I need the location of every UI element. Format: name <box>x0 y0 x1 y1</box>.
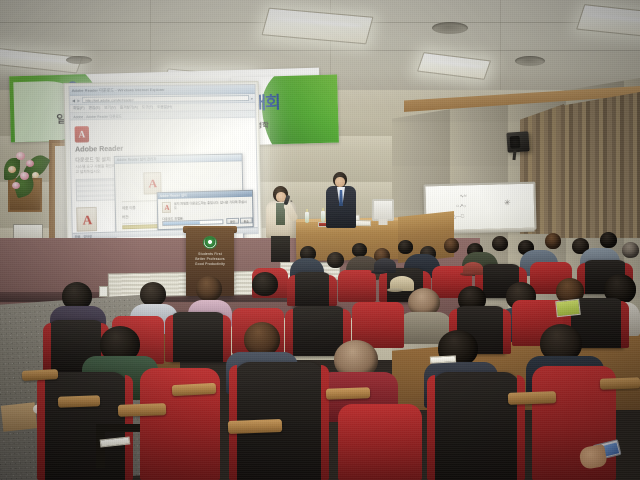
seat-leg <box>96 424 140 432</box>
audience-head <box>622 242 639 258</box>
presenter-with-microphone <box>264 186 298 262</box>
seat-armrest <box>118 403 166 417</box>
seat-leg <box>96 428 105 468</box>
ceiling-light-5 <box>417 52 491 80</box>
presenter-trousers <box>271 236 290 262</box>
label-version: 버전: <box>122 214 129 219</box>
projected-browser-window: Adobe Reader 다운로드 - Windows Internet Exp… <box>69 84 259 240</box>
download-progress-dialog: Adobe Reader 설치 설치 파일을 다운로드하는 중입니다. 잠시만 … <box>157 190 254 230</box>
forward-icon[interactable]: ▶ <box>77 97 80 102</box>
window-curtain <box>556 92 640 238</box>
podium-line-3: Good Productivity <box>189 262 231 267</box>
browser-title: Adobe Reader 다운로드 - Windows Internet Exp… <box>72 87 165 94</box>
seat[interactable] <box>292 272 332 306</box>
flower-arrangement <box>2 146 50 198</box>
audience-head <box>545 233 561 249</box>
audience-head <box>398 240 413 254</box>
conference-hall-photo: 2 일시 술대회 주거환경학 Adobe Reader 다운로드 - Windo… <box>0 0 640 480</box>
seat-back[interactable] <box>338 270 376 302</box>
seat-armrest <box>326 387 370 400</box>
ceiling-light-2 <box>576 4 640 38</box>
back-icon[interactable]: ◀ <box>72 97 75 102</box>
menu-item-favorites[interactable]: 즐겨찾기(A) <box>120 105 138 110</box>
search-icon[interactable]: ⌕ <box>251 95 253 100</box>
handout-paper <box>430 355 456 363</box>
seat[interactable] <box>170 312 226 362</box>
menu-item-file[interactable]: 파일(F) <box>73 106 85 111</box>
page-subheading: 다운로드 및 설치 <box>75 156 111 164</box>
download-message: 설치 파일을 다운로드하는 중입니다. 잠시만 기다려 주십시오. <box>174 200 251 210</box>
audience-head <box>444 238 459 253</box>
browser-page-content: A Adobe Reader 다운로드 및 설치 시스템 요구 사항을 확인하고… <box>70 118 257 233</box>
host-face <box>335 177 345 187</box>
seat-armrest <box>228 419 282 434</box>
menu-item-view[interactable]: 보기(V) <box>104 106 116 111</box>
cardboard-box <box>1 402 38 431</box>
seat-armrest <box>172 383 217 396</box>
audience-cap-red-icon <box>463 262 483 275</box>
menu-item-tools[interactable]: 도구(T) <box>142 105 153 110</box>
water-bottle-1 <box>305 212 309 223</box>
seat-armrest <box>22 369 58 381</box>
podium-inscription: Students First Better Professors Good Pr… <box>189 252 231 267</box>
audience-head <box>252 272 278 296</box>
water-bottle-2 <box>321 211 325 222</box>
adobe-logo-icon: A <box>75 126 90 142</box>
audience-head <box>492 236 508 251</box>
menu-item-help[interactable]: 도움말(H) <box>157 105 172 110</box>
label-product: 제품 이름: <box>122 205 137 210</box>
wall-outlet[interactable] <box>99 286 108 297</box>
seat-armrest <box>600 377 640 389</box>
university-emblem-icon <box>203 236 217 249</box>
page-note: 시스템 요구 사항을 확인하고 설치하십시오. <box>75 164 116 175</box>
download-dialog-title: Adobe Reader 설치 <box>158 191 252 199</box>
seat[interactable] <box>432 372 520 480</box>
audience-head <box>327 252 344 268</box>
installer-dialog-title: Adobe Reader 설치 관리자 <box>115 154 242 164</box>
handout-paper <box>555 299 581 317</box>
seat-armrest <box>508 391 556 405</box>
audience-head <box>140 282 166 306</box>
address-bar[interactable]: http://get.adobe.com/kr/reader/ <box>82 95 249 103</box>
seat-back[interactable] <box>338 404 422 480</box>
progress-fill <box>163 221 200 225</box>
page-heading: Adobe Reader <box>75 146 123 154</box>
ok-button[interactable]: 확인 <box>226 218 239 224</box>
audience-cap-icon <box>374 258 396 273</box>
projection-screen: Adobe Reader 다운로드 - Windows Internet Exp… <box>63 81 261 245</box>
browser-tab[interactable]: Adobe - Adobe Reader 다운로드 <box>73 113 122 119</box>
ceiling-light-1 <box>262 8 374 45</box>
host-at-table <box>326 172 356 228</box>
desktop-monitor <box>372 199 394 221</box>
acrobat-thumbnail-icon <box>76 207 97 232</box>
menu-item-edit[interactable]: 편집(E) <box>89 106 101 111</box>
seat-armrest <box>58 395 100 407</box>
ceiling-vent-3 <box>66 56 92 64</box>
audience-cap-beige-icon <box>390 276 414 291</box>
download-acrobat-icon <box>162 202 171 213</box>
wall-speaker-icon <box>506 131 529 152</box>
cancel-button[interactable]: 취소 <box>240 217 253 223</box>
audience-head <box>600 232 617 248</box>
ceiling-vent-1 <box>432 22 468 34</box>
audience-head <box>244 322 280 356</box>
audience-head <box>196 276 222 301</box>
ceiling-vent-2 <box>515 56 545 66</box>
audience-head <box>352 243 367 257</box>
